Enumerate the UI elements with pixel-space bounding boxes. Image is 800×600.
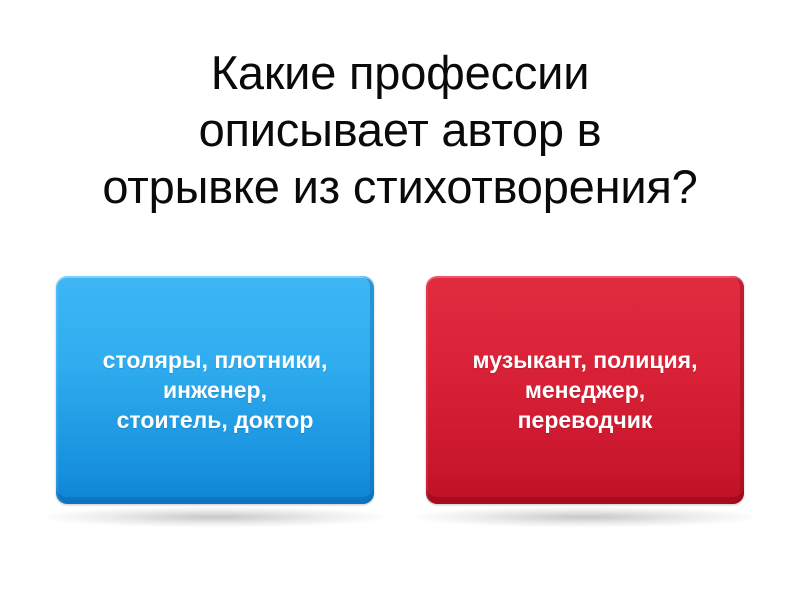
answer-option-red-label: музыкант, полиция, менеджер, переводчик [461, 345, 710, 435]
question-area: Какие профессии описывает автор в отрывк… [0, 0, 800, 215]
answer-option-red[interactable]: музыкант, полиция, менеджер, переводчик [410, 266, 760, 518]
answer-option-blue-label: столяры, плотники, инженер, стоитель, до… [91, 345, 340, 435]
answer-option-blue-surface: столяры, плотники, инженер, стоитель, до… [56, 276, 374, 504]
quiz-screen: Какие профессии описывает автор в отрывк… [0, 0, 800, 600]
answer-option-blue[interactable]: столяры, плотники, инженер, стоитель, до… [40, 266, 390, 518]
question-text: Какие профессии описывает автор в отрывк… [20, 44, 780, 215]
answer-options-container: столяры, плотники, инженер, стоитель, до… [0, 266, 800, 518]
answer-option-red-surface: музыкант, полиция, менеджер, переводчик [426, 276, 744, 504]
